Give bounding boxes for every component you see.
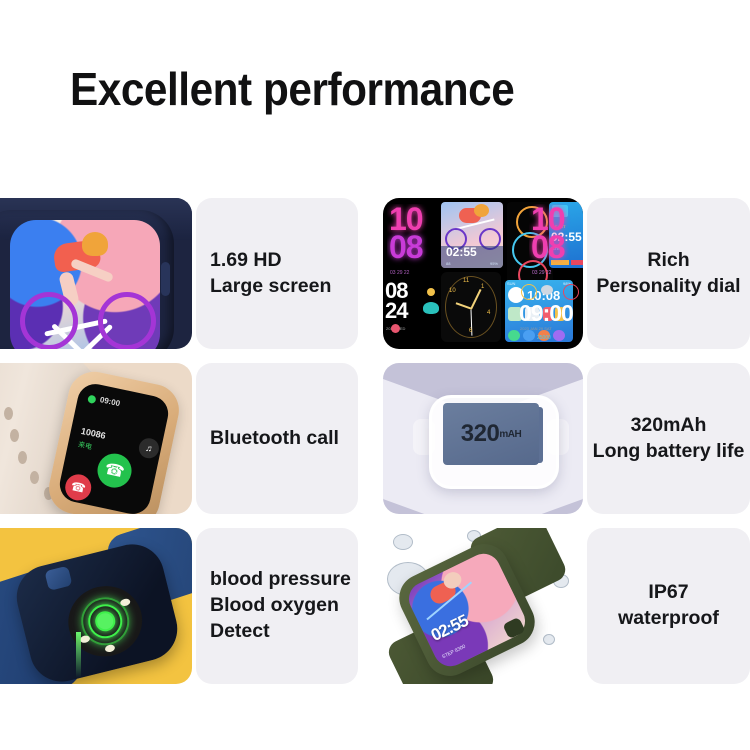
caption-line: Blood oxygen (210, 593, 351, 619)
call-number: 10086 (80, 426, 107, 441)
battery-capacity-value: 320 (461, 420, 500, 448)
feature-row-1: 1.69 HD Large screen 10 08 03 29 22 (0, 192, 750, 357)
caption-line: 320mAh (593, 413, 745, 439)
caption-line: waterproof (618, 606, 719, 632)
feature-card-battery[interactable]: 320mAH 320mAh Long battery life (383, 357, 750, 522)
media-green-watch-water-droplets: 02:55 STEP 8300 98% (383, 528, 583, 684)
call-status: 来电 (77, 440, 93, 453)
caption-panel-health-detect: blood pressure Blood oxygen Detect (196, 528, 358, 684)
page-title: Excellent performance (70, 62, 514, 116)
caption-line: blood pressure (210, 567, 351, 593)
media-watch-back-ppg-sensor (0, 528, 192, 684)
media-navy-watch-cyclist-screen (0, 198, 192, 349)
caption-line: IP67 (618, 580, 719, 606)
feature-card-bluetooth-call[interactable]: 09:00 10086 来电 ☎ ☎ ♫ Bluetooth call (0, 357, 358, 522)
media-battery-inside-transparent-watch: 320mAH (383, 363, 583, 514)
caption-line: 1.69 HD (210, 248, 331, 274)
caption-line: Personality dial (596, 274, 740, 300)
call-time: 09:00 (99, 395, 121, 408)
media-watch-face-gallery: 10 08 03 29 22 02:55 (383, 198, 583, 349)
caption-line: Bluetooth call (210, 426, 339, 452)
caption-panel-large-screen: 1.69 HD Large screen (196, 198, 358, 349)
mute-icon: ♫ (137, 436, 161, 460)
feature-card-large-screen[interactable]: 1.69 HD Large screen (0, 192, 358, 357)
feature-card-health-detect[interactable]: blood pressure Blood oxygen Detect (0, 522, 358, 692)
media-gold-watch-incoming-call: 09:00 10086 来电 ☎ ☎ ♫ (0, 363, 192, 514)
feature-row-2: 09:00 10086 来电 ☎ ☎ ♫ Bluetooth call (0, 357, 750, 522)
feature-card-personality-dial[interactable]: 10 08 03 29 22 02:55 (383, 192, 750, 357)
feature-row-3: blood pressure Blood oxygen Detect (0, 522, 750, 692)
caption-line: Rich (596, 248, 740, 274)
caption-line: Detect (210, 619, 351, 645)
caption-line: Long battery life (593, 439, 745, 465)
ppg-sensor-icon (61, 578, 150, 664)
caption-line: Large screen (210, 274, 331, 300)
call-screen: 09:00 10086 来电 ☎ ☎ ♫ (57, 381, 172, 514)
feature-card-waterproof[interactable]: 02:55 STEP 8300 98% IP67 waterproof (383, 522, 750, 692)
decline-call-icon: ☎ (63, 472, 94, 503)
caption-panel-waterproof: IP67 waterproof (587, 528, 750, 684)
product-feature-infographic: Excellent performance (0, 0, 750, 750)
caption-panel-personality-dial: Rich Personality dial (587, 198, 750, 349)
answer-call-icon: ☎ (94, 450, 134, 490)
caption-panel-battery: 320mAh Long battery life (587, 363, 750, 514)
feature-grid: 1.69 HD Large screen 10 08 03 29 22 (0, 192, 750, 692)
caption-panel-bluetooth-call: Bluetooth call (196, 363, 358, 514)
battery-capacity-unit: mAH (499, 429, 521, 440)
